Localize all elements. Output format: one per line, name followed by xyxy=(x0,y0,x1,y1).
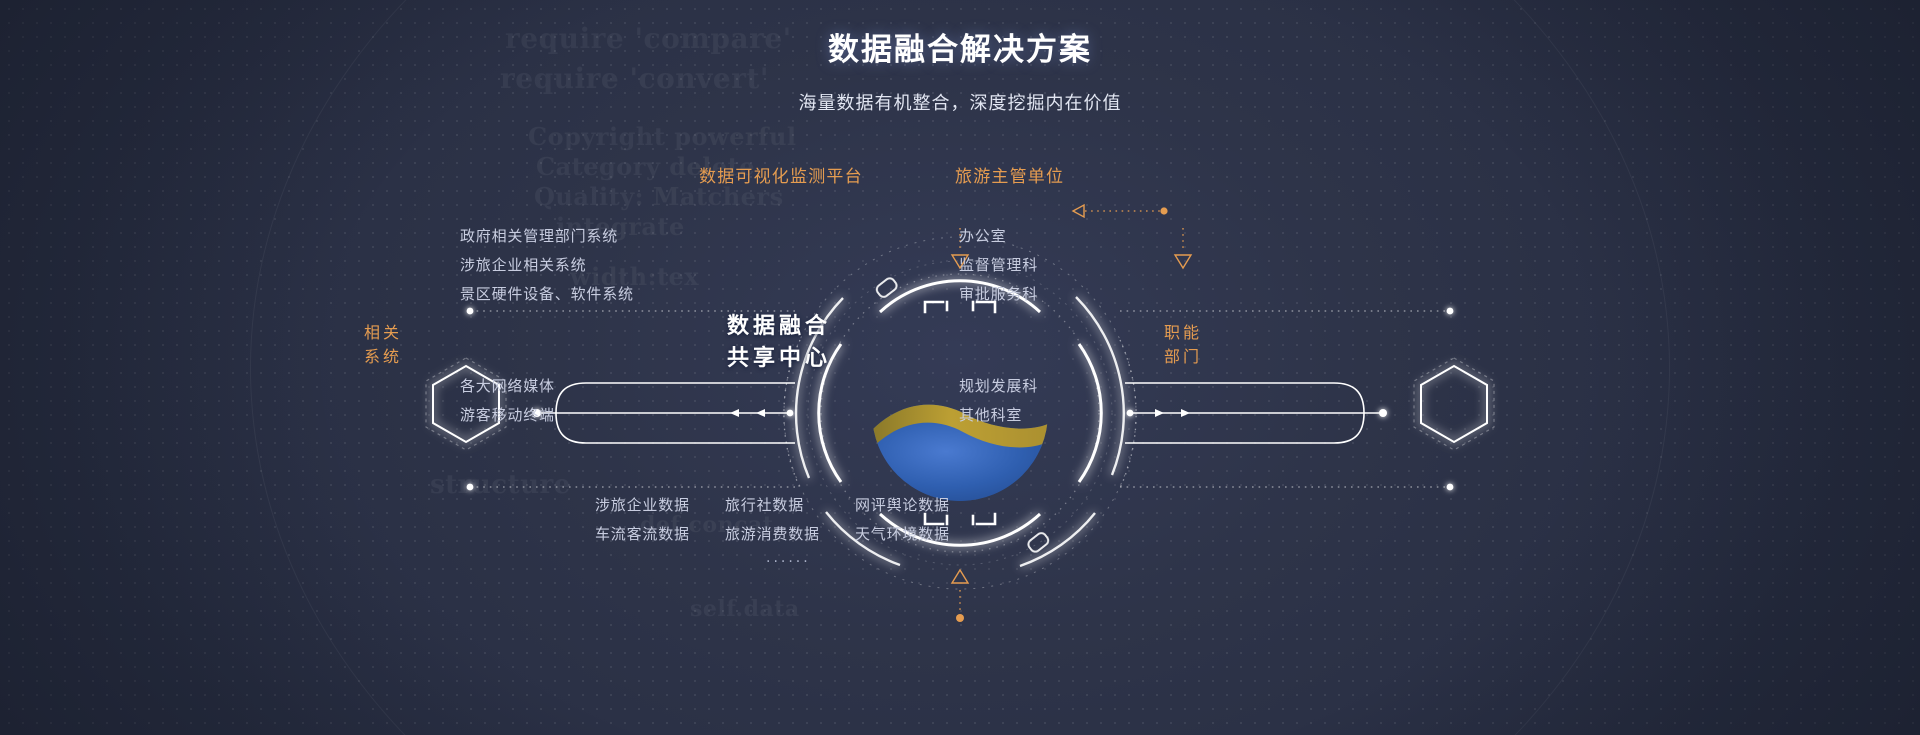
hexagon-left-line2: 系统 xyxy=(348,345,418,369)
list-item: 游客移动终端 xyxy=(460,401,555,430)
list-item: 办公室 xyxy=(959,222,1038,251)
list-item: 监督管理科 xyxy=(959,251,1038,280)
list-item: 审批服务科 xyxy=(959,280,1038,309)
list-item: 涉旅企业相关系统 xyxy=(460,251,634,280)
hexagon-left-label: 相关 系统 xyxy=(348,321,418,369)
bottom-data-sources: 涉旅企业数据 旅行社数据 网评舆论数据 车流客流数据 旅游消费数据 天气环境数据 xyxy=(595,491,995,549)
label-visualization-platform[interactable]: 数据可视化监测平台 xyxy=(699,162,863,187)
bottom-orange-connector xyxy=(952,570,968,622)
hexagon-right-line2: 部门 xyxy=(1148,345,1218,369)
list-item: 旅游消费数据 xyxy=(725,520,855,549)
list-item: 各大网络媒体 xyxy=(460,372,555,401)
right-column-bottom-list: 规划发展科 其他科室 xyxy=(959,372,1038,430)
list-item: 规划发展科 xyxy=(959,372,1038,401)
bottom-ellipsis: ...... xyxy=(766,550,811,566)
hexagon-right[interactable] xyxy=(1414,358,1494,450)
left-column-bottom-list: 各大网络媒体 游客移动终端 xyxy=(460,372,555,430)
list-item: 车流客流数据 xyxy=(595,520,725,549)
page-title: 数据融合解决方案 xyxy=(0,32,1920,69)
list-item: 景区硬件设备、软件系统 xyxy=(460,280,634,309)
page-subtitle: 海量数据有机整合，深度挖掘内在价值 xyxy=(0,89,1920,115)
center-hub-line2: 共享中心 xyxy=(679,343,879,375)
label-tourism-authority[interactable]: 旅游主管单位 xyxy=(955,162,1064,187)
list-item: 涉旅企业数据 xyxy=(595,491,725,520)
list-item: 旅行社数据 xyxy=(725,491,855,520)
hexagon-right-label: 职能 部门 xyxy=(1148,321,1218,369)
center-hub-label: 数据融合 共享中心 xyxy=(679,311,879,375)
list-item: 天气环境数据 xyxy=(855,520,995,549)
right-column-top-list: 办公室 监督管理科 审批服务科 xyxy=(959,222,1038,309)
header: 数据融合解决方案 海量数据有机整合，深度挖掘内在价值 xyxy=(0,32,1920,115)
left-column-top-list: 政府相关管理部门系统 涉旅企业相关系统 景区硬件设备、软件系统 xyxy=(460,222,634,309)
list-item: 其他科室 xyxy=(959,401,1038,430)
center-hub-line1: 数据融合 xyxy=(679,311,879,343)
list-item: 政府相关管理部门系统 xyxy=(460,222,634,251)
hexagon-left-line1: 相关 xyxy=(348,321,418,345)
hexagon-right-line1: 职能 xyxy=(1148,321,1218,345)
list-item: 网评舆论数据 xyxy=(855,491,995,520)
